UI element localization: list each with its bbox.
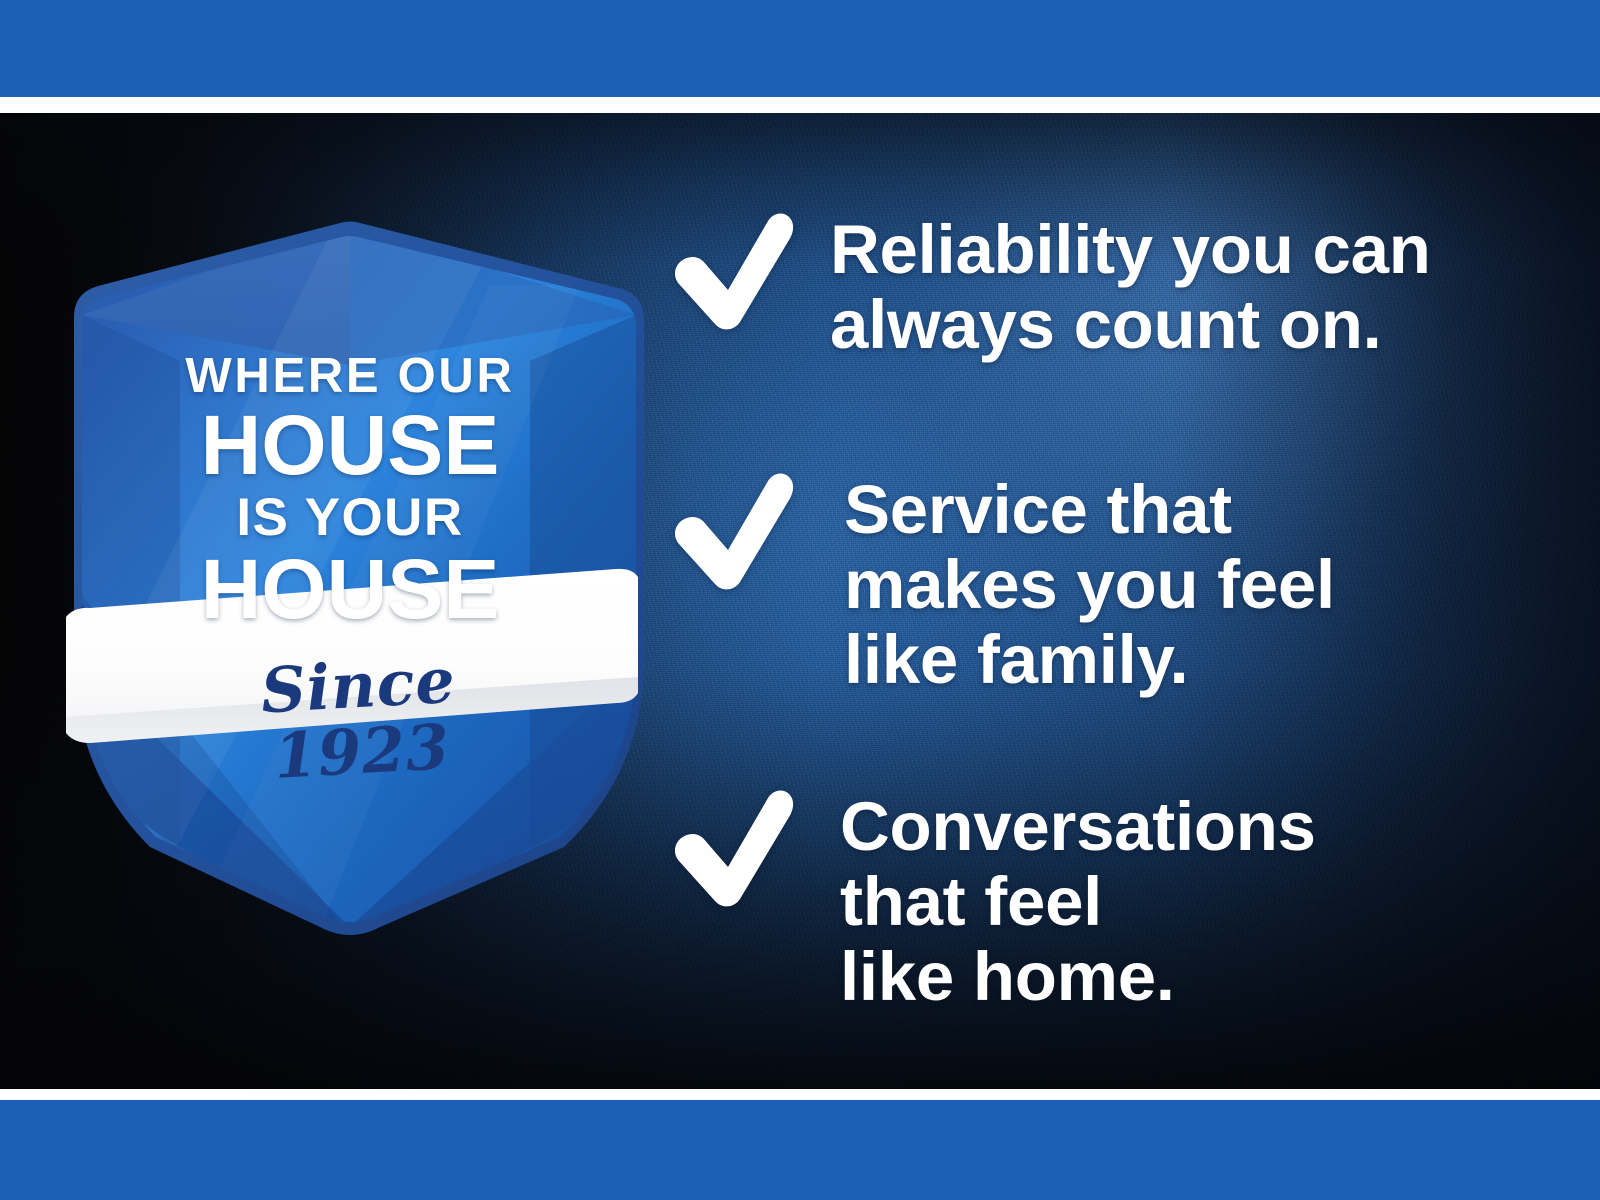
check-icon — [660, 785, 792, 903]
list-item: Conversations that feel like home. — [660, 785, 1316, 1014]
list-item-text: Reliability you can always count on. — [830, 208, 1431, 362]
bottom-accent-bar — [0, 1100, 1600, 1200]
check-icon — [660, 208, 792, 326]
list-item-text: Conversations that feel like home. — [840, 785, 1316, 1014]
shield-badge: WHERE OUR HOUSE IS YOUR HOUSE Since 1923 — [60, 165, 640, 955]
check-icon — [660, 468, 792, 586]
list-item-text: Service that makes you feel like family. — [844, 468, 1335, 697]
list-item: Service that makes you feel like family. — [660, 468, 1335, 697]
shield-graphic — [60, 165, 640, 955]
bottom-white-divider — [0, 1089, 1600, 1100]
benefits-list: Reliability you can always count on. Ser… — [660, 113, 1560, 1089]
promo-graphic: WHERE OUR HOUSE IS YOUR HOUSE Since 1923… — [0, 0, 1600, 1200]
top-white-divider — [0, 97, 1600, 113]
top-accent-bar — [0, 0, 1600, 97]
list-item: Reliability you can always count on. — [660, 208, 1431, 362]
